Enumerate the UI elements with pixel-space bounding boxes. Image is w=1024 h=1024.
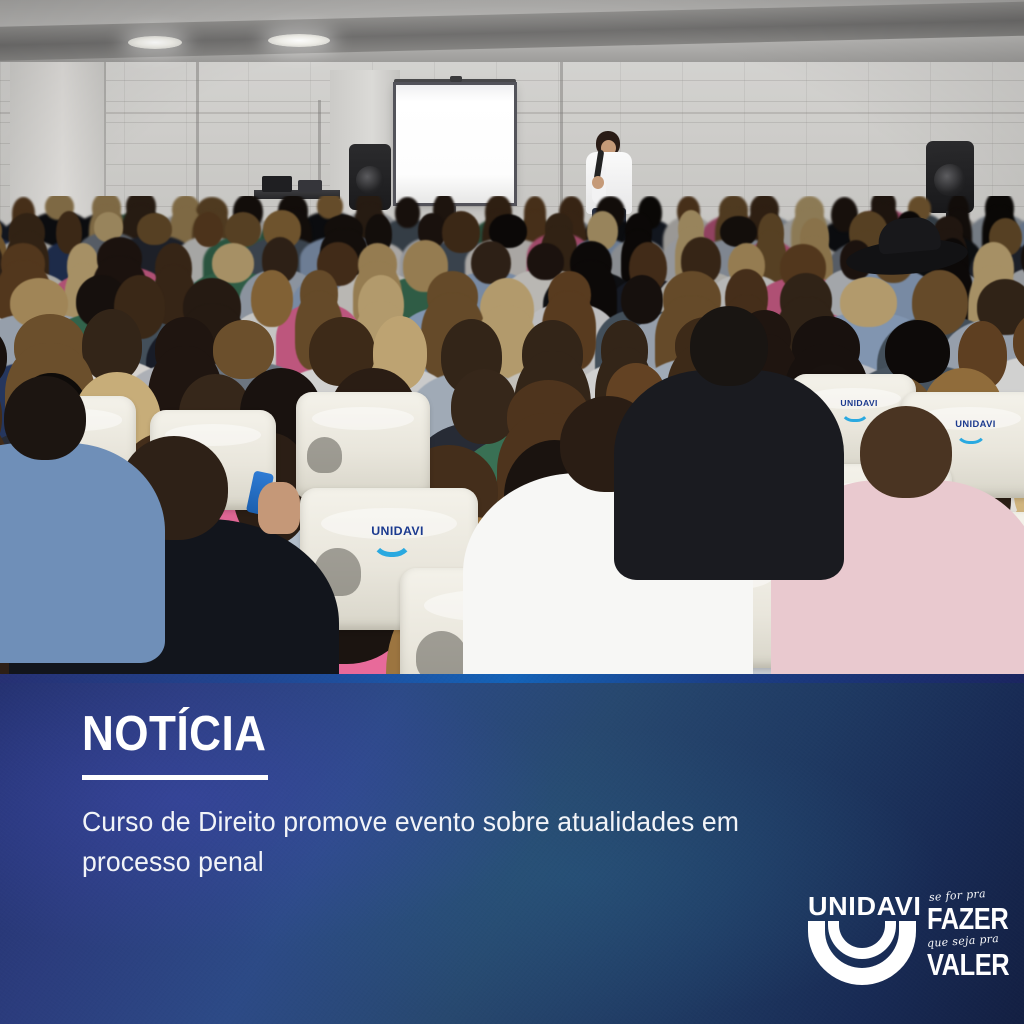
tagline-fazer: FAZER (927, 903, 1008, 934)
tagline-valer: VALER (927, 949, 1009, 980)
chair-unidavi-wordmark: UNIDAVI (371, 525, 424, 537)
headline-text: Curso de Direito promove evento sobre at… (82, 802, 804, 882)
ceiling-light-icon (128, 36, 182, 49)
av-equipment (298, 180, 322, 192)
audience-member-head (395, 197, 420, 228)
audience-member-head (442, 211, 480, 254)
audience-member-head (720, 216, 757, 247)
chair-backrest-cutout (416, 631, 467, 674)
audience: UNIDAVIUNIDAVIUNIDAVIUNIDAVIUNIDAVI (0, 196, 1024, 674)
chair-unidavi-wordmark: UNIDAVI (840, 399, 877, 408)
foreground-attendee-head (860, 406, 952, 498)
foreground-attendee-head (690, 306, 768, 386)
chair-backrest-cutout (307, 437, 342, 473)
projection-screen (396, 85, 514, 203)
ceiling-light-icon (268, 34, 330, 47)
audience-member-head (213, 320, 274, 378)
wall-seam-3 (560, 62, 563, 212)
audience-member-head (621, 275, 663, 323)
audience-member-head (137, 213, 172, 245)
pa-speaker-cone-left (356, 166, 384, 194)
foreground-attendee-hand (258, 482, 300, 534)
projection-screen-mount (450, 76, 462, 82)
kicker-label: NOTÍCIA (82, 710, 266, 759)
unidavi-logo: UNIDAVI se for pra FAZER que seja pra VA… (806, 893, 1006, 990)
foreground-attendee-body (614, 370, 844, 580)
chair-unidavi-wordmark: UNIDAVI (955, 420, 996, 429)
audience-member-head (212, 243, 254, 282)
pa-speaker-cone-right (934, 164, 966, 196)
audience-member-head (194, 212, 223, 247)
event-photo: UNIDAVIUNIDAVIUNIDAVIUNIDAVIUNIDAVI (0, 0, 1024, 674)
audience-member-head (840, 277, 897, 327)
av-equipment (262, 176, 292, 192)
kicker-underline (82, 775, 268, 780)
audience-member-head (225, 212, 261, 247)
audience-member-head (451, 369, 517, 444)
presenter-hand (592, 176, 604, 189)
news-card: UNIDAVIUNIDAVIUNIDAVIUNIDAVIUNIDAVI NOTÍ… (0, 0, 1024, 1024)
audience-member-head (251, 270, 293, 327)
unidavi-wordmark: UNIDAVI (808, 893, 922, 919)
foreground-attendee-body (0, 443, 165, 663)
foreground-attendee-head (4, 376, 86, 460)
